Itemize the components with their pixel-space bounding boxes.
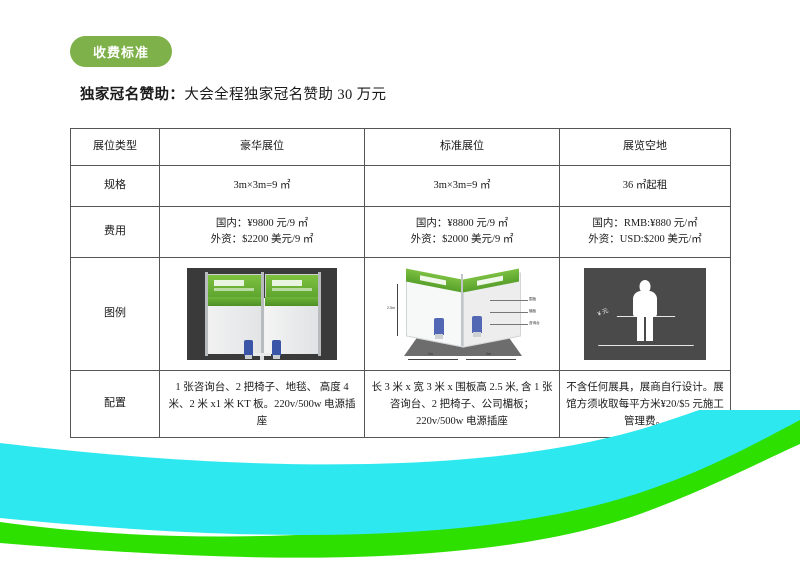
booth-post-center <box>261 272 264 356</box>
booth-chair-left <box>244 340 253 356</box>
callout-label-2: 楣板 <box>529 309 536 315</box>
fee-deluxe-foreign: 外资：$2200 美元/9 ㎡ <box>166 232 358 248</box>
section-badge: 收费标准 <box>70 36 172 67</box>
column-header-rawspace: 展览空地 <box>560 129 731 166</box>
person-silhouette-icon <box>632 280 658 340</box>
page-title-label: 独家冠名赞助： <box>80 87 184 103</box>
fee-standard-domestic: 国内：¥8800 元/9 ㎡ <box>371 216 553 232</box>
booth-post-left <box>205 272 208 356</box>
spec-deluxe: 3m×3m=9 ㎡ <box>160 166 365 207</box>
illustration-cell-standard: 2.5m 3m 3m 围板 楣板 咨询台 <box>365 258 560 371</box>
fee-standard-foreign: 外资：$2000 美元/9 ㎡ <box>371 232 553 248</box>
table-row: 规格 3m×3m=9 ㎡ 3m×3m=9 ㎡ 36 ㎡起租 <box>71 166 731 207</box>
page-title-text: 大会全程独家冠名赞助 30 万元 <box>184 87 386 103</box>
booth-banner-right <box>265 274 321 298</box>
page-canvas: 收费标准 独家冠名赞助：大会全程独家冠名赞助 30 万元 展位类型 豪华展位 标… <box>0 0 800 565</box>
fee-deluxe-domestic: 国内：¥9800 元/9 ㎡ <box>166 216 358 232</box>
page-title: 独家冠名赞助：大会全程独家冠名赞助 30 万元 <box>80 83 386 104</box>
callout-line-2 <box>490 312 528 313</box>
column-header-standard: 标准展位 <box>365 129 560 166</box>
booth-chair-left <box>434 318 444 335</box>
fee-standard: 国内：¥8800 元/9 ㎡ 外资：$2000 美元/9 ㎡ <box>365 207 560 258</box>
dimension-line-depth <box>466 359 516 360</box>
illustration-cell-rawspace: ¥ 元 <box>560 258 731 371</box>
wave-cyan <box>0 410 800 535</box>
label-height: 2.5m <box>387 306 395 312</box>
row-label-illustration: 图例 <box>71 258 160 371</box>
booth-chair-right <box>472 316 482 333</box>
standard-booth-diagram: 2.5m 3m 3m 围板 楣板 咨询台 <box>378 266 546 362</box>
spec-standard: 3m×3m=9 ㎡ <box>365 166 560 207</box>
booth-post-right <box>318 272 321 356</box>
booth-fascia-left <box>207 297 261 306</box>
row-label-fee: 费用 <box>71 207 160 258</box>
raw-space-diagram: ¥ 元 <box>584 268 706 360</box>
raw-space-note: ¥ 元 <box>597 307 611 320</box>
booth-table <box>253 353 271 356</box>
callout-label-3: 咨询台 <box>529 321 540 327</box>
label-width: 3m <box>428 352 433 358</box>
table-row: 费用 国内：¥9800 元/9 ㎡ 外资：$2200 美元/9 ㎡ 国内：¥88… <box>71 207 731 258</box>
dimension-line-height <box>397 284 398 336</box>
booth-banner-left <box>207 274 263 298</box>
row-label-spec: 规格 <box>71 166 160 207</box>
booth-post-center <box>461 274 463 346</box>
booth-fascia-right <box>265 297 319 306</box>
decorative-wave-graphic <box>0 410 800 565</box>
callout-line-3 <box>490 324 528 325</box>
fee-rawspace: 国内：RMB:¥880 元/㎡ 外资：USD:$200 美元/㎡ <box>560 207 731 258</box>
table-row: 图例 <box>71 258 731 371</box>
fee-rawspace-domestic: 国内：RMB:¥880 元/㎡ <box>566 216 724 232</box>
column-header-type: 展位类型 <box>71 129 160 166</box>
pricing-table: 展位类型 豪华展位 标准展位 展览空地 规格 3m×3m=9 ㎡ 3m×3m=9… <box>70 128 731 438</box>
deluxe-booth-photo <box>187 268 337 360</box>
callout-label-1: 围板 <box>529 297 536 303</box>
label-depth: 3m <box>486 352 491 358</box>
column-header-deluxe: 豪华展位 <box>160 129 365 166</box>
fee-rawspace-foreign: 外资：USD:$200 美元/㎡ <box>566 232 724 248</box>
spec-rawspace: 36 ㎡起租 <box>560 166 731 207</box>
dimension-line-width <box>408 359 458 360</box>
illustration-cell-deluxe <box>160 258 365 371</box>
section-badge-label: 收费标准 <box>93 42 149 61</box>
callout-line-1 <box>490 300 528 301</box>
booth-chair-right <box>272 340 281 356</box>
table-header-row: 展位类型 豪华展位 标准展位 展览空地 <box>71 129 731 166</box>
fee-deluxe: 国内：¥9800 元/9 ㎡ 外资：$2200 美元/9 ㎡ <box>160 207 365 258</box>
